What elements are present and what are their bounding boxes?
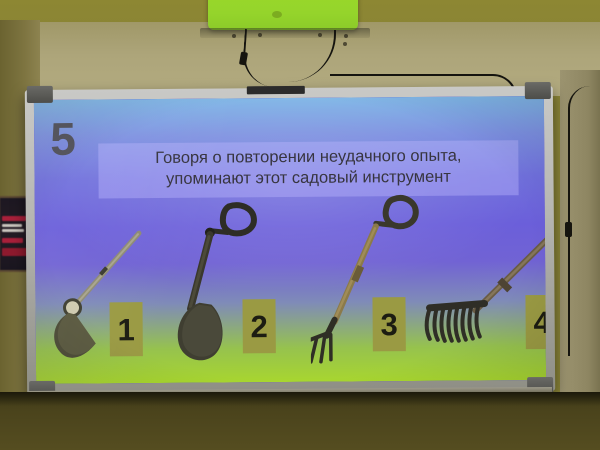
board-corner-bracket — [27, 86, 53, 103]
mount-screw — [343, 42, 347, 46]
projector-body — [208, 0, 358, 30]
question-text-block: Говоря о повторении неудачного опыта, уп… — [98, 140, 518, 199]
answer-badge-2[interactable]: 2 — [242, 299, 275, 353]
wall-lower-shadow — [0, 392, 600, 406]
whiteboard[interactable]: 5 Говоря о повторении неудачного опыта, … — [25, 86, 555, 395]
cable-connector-node — [565, 222, 572, 237]
question-line-2: упоминают этот садовый инструмент — [108, 166, 508, 190]
projection-area[interactable]: 5 Говоря о повторении неудачного опыта, … — [34, 96, 546, 384]
mount-screw — [232, 34, 236, 38]
board-brand-label — [247, 86, 305, 94]
cable-right-run — [568, 86, 590, 356]
mount-screw — [344, 34, 348, 38]
answer-badge-4[interactable]: 4 — [525, 295, 546, 349]
answer-badge-3[interactable]: 3 — [372, 297, 405, 351]
classroom-scene: 5 Говоря о повторении неудачного опыта, … — [0, 0, 600, 450]
answer-badge-1[interactable]: 1 — [109, 302, 142, 356]
projector-lens-icon — [272, 11, 282, 18]
slide-number: 5 — [50, 116, 75, 162]
board-corner-bracket — [525, 82, 551, 99]
